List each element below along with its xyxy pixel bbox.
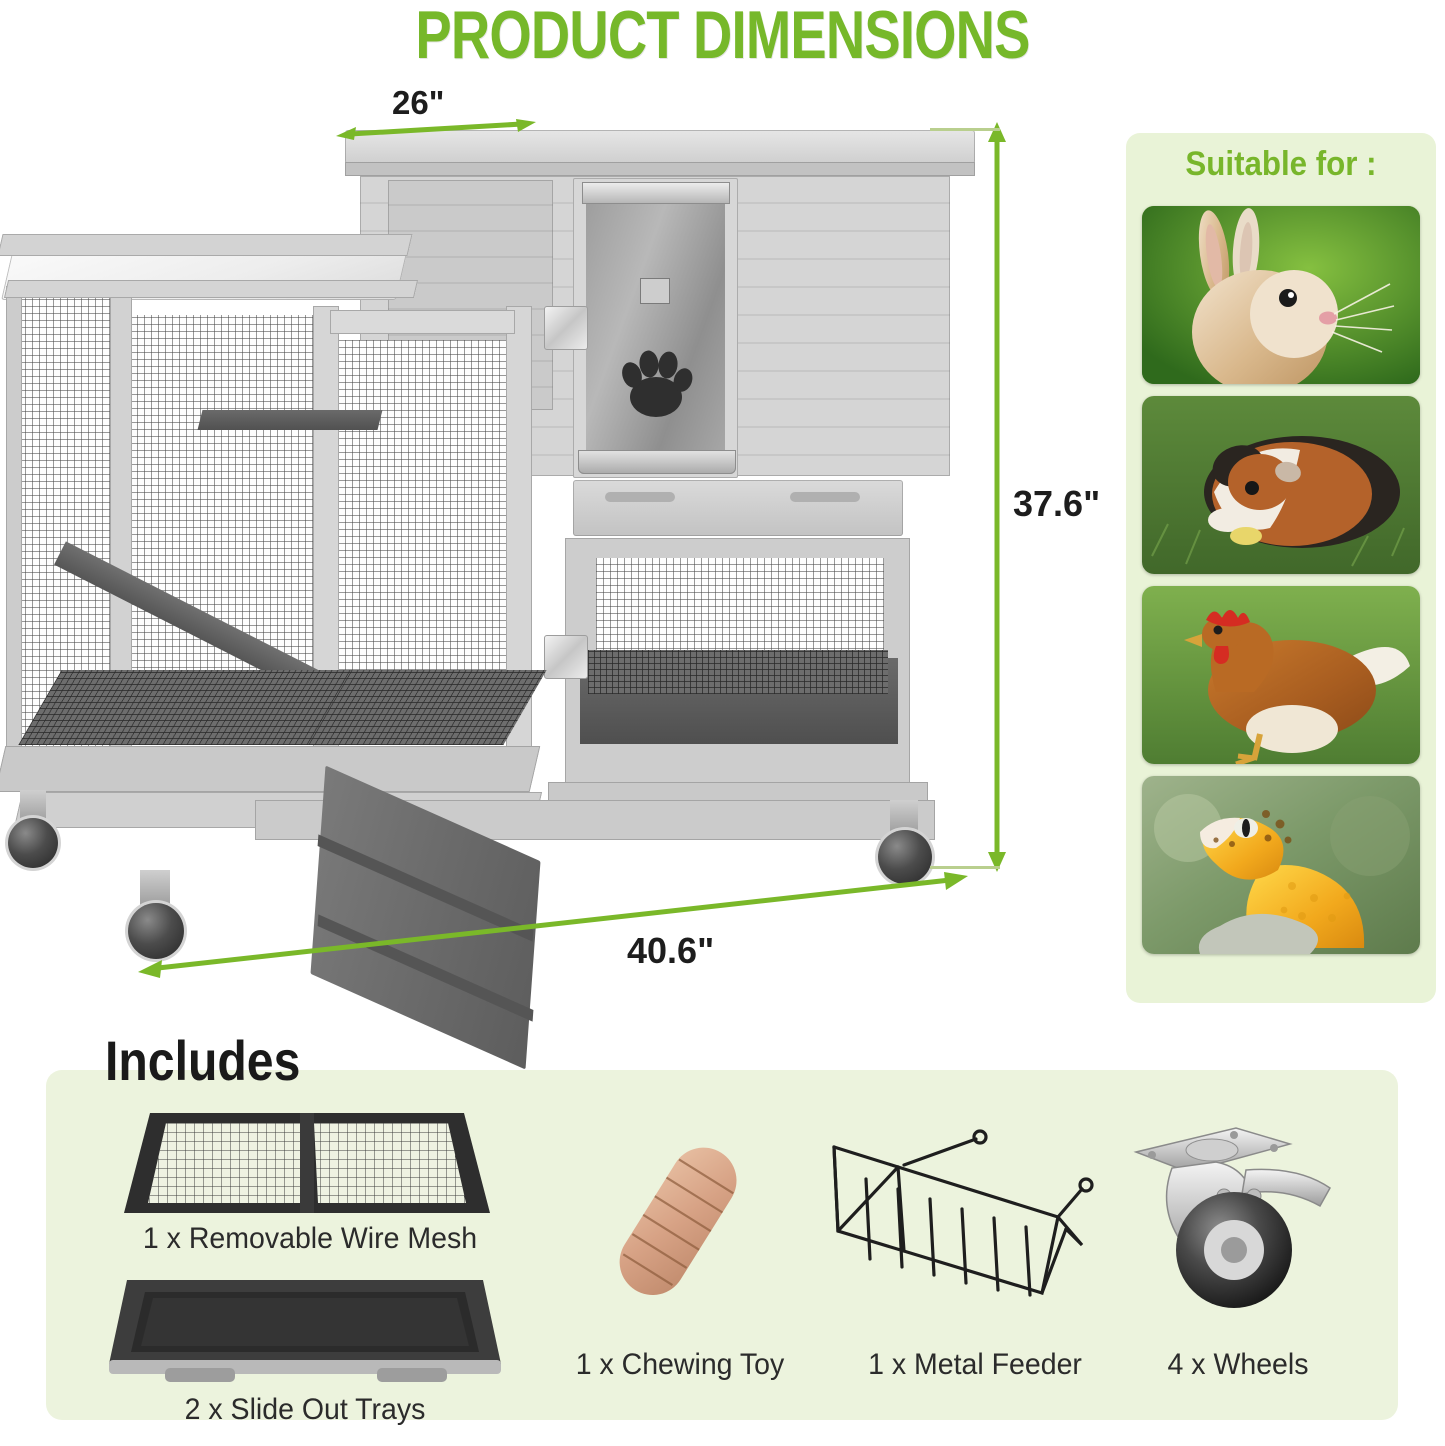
run-bottom-frame [0,746,540,792]
internal-ramp-upper [198,410,383,430]
includes-label-metal-feeder: 1 x Metal Feeder [842,1348,1108,1382]
caster-wheel-back-left [8,818,58,868]
wheel-icon [1128,1122,1348,1322]
run-lid-frame [0,234,413,256]
hinge-icon [544,306,588,350]
drawer-handle-left-icon [605,492,675,502]
includes-title: Includes [105,1028,300,1093]
drawer-handle-right-icon [790,492,860,502]
door-top-rail [582,182,730,204]
hutch-roof-front-lip [345,162,975,176]
hutch-door-window [586,196,725,462]
includes-label-chewing-toy: 1 x Chewing Toy [547,1348,813,1382]
paw-print-icon [606,340,706,420]
run-top-rail [4,280,418,298]
dimension-arrow-top-width [336,118,536,140]
suitable-photo-chicken [1142,586,1420,764]
suitable-photo-rabbit [1142,206,1420,384]
wire-mesh-icon [122,1105,492,1223]
chewing-toy-icon [592,1128,762,1318]
door-bottom-tray [578,450,736,474]
includes-label-wire-mesh: 1 x Removable Wire Mesh [73,1222,548,1256]
run-post-left [6,286,22,766]
wheel-stem [890,800,918,834]
dimension-arrow-depth [138,868,968,984]
door-vent-slot-icon [640,278,670,304]
suitable-for-title: Suitable for : [1138,145,1423,184]
dimension-label-height: 37.6" [1013,483,1100,525]
suitable-for-panel: Suitable for : [1126,133,1436,1003]
dimension-label-top-width: 26" [392,84,444,122]
run-floor-mesh [18,670,361,745]
suitable-photo-lizard [1142,776,1420,954]
hutch-drawer[interactable] [573,480,903,536]
dimension-arrow-height [985,122,1009,872]
includes-label-slide-out-trays: 2 x Slide Out Trays [106,1393,505,1427]
run-door-top-rail [330,310,515,334]
hutch-lower-floor-mesh [588,650,888,694]
metal-feeder-icon [820,1125,1100,1325]
page-title: PRODUCT DIMENSIONS [145,0,1301,74]
includes-label-wheels: 4 x Wheels [1134,1348,1343,1382]
dimension-guide-top [930,128,1000,131]
slide-out-tray-icon [105,1272,505,1392]
suitable-photo-guinea-pig [1142,396,1420,574]
hinge-icon [544,635,588,679]
